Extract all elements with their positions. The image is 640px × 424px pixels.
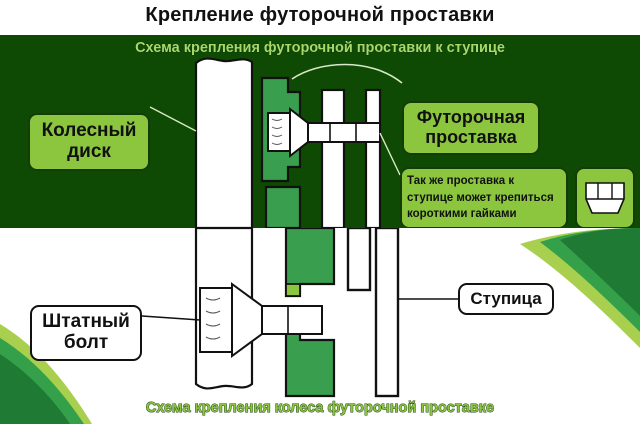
label-spacer: Футорочная проставка: [402, 101, 540, 155]
lower-diagram-panel: Штатный болт Ступица Схема крепления кол…: [0, 228, 640, 424]
upper-diagram-panel: Схема крепления футорочной проставки к с…: [0, 35, 640, 228]
label-note-line2: ступице может крепиться: [407, 192, 554, 204]
bolt-shank: [262, 306, 322, 334]
label-wheel-disc-line1: Колесный: [42, 120, 137, 141]
short-nut-glyph: [582, 177, 628, 219]
diagram-canvas: Крепление футорочной проставки Схема кре…: [0, 0, 640, 424]
label-bolt-line2: болт: [64, 332, 108, 353]
lower-banner-text: Схема крепления колеса футорочной проста…: [0, 400, 640, 416]
page-title: Крепление футорочной проставки: [0, 4, 640, 27]
leader-line-spacer: [292, 65, 402, 84]
wheel-disc-shape: [196, 59, 252, 228]
label-hub: Ступица: [458, 283, 554, 315]
label-note-short-nuts: Так же проставка к ступице может крепить…: [400, 167, 568, 228]
short-nut-icon: [575, 167, 635, 228]
leader-line-bolt: [142, 316, 200, 320]
label-spacer-line1: Футорочная: [417, 107, 526, 127]
leader-line-wheel-disc: [150, 107, 196, 131]
stud-shank: [308, 123, 380, 142]
bolt-cone-seat: [232, 284, 262, 356]
stud-nut-head: [268, 113, 290, 151]
leader-line-note: [380, 133, 400, 175]
label-wheel-disc-line2: диск: [67, 141, 111, 162]
label-hub-text: Ступица: [470, 290, 541, 309]
spacer-lower-body-2: [286, 328, 334, 396]
hub-outer-plate-shape: [366, 90, 380, 228]
label-note-line3: короткими гайками: [407, 208, 517, 220]
label-bolt-line1: Штатный: [42, 311, 130, 332]
label-wheel-disc: Колесный диск: [28, 113, 150, 171]
spacer-step-upper: [286, 284, 300, 296]
leader-line-hub: [398, 288, 458, 299]
label-standard-bolt: Штатный болт: [30, 305, 142, 361]
label-note-line1: Так же проставка к: [407, 175, 514, 187]
spacer-lower-shape: [266, 187, 300, 228]
label-spacer-line2: проставка: [425, 127, 517, 147]
hub-inner-plate: [348, 228, 370, 290]
stud-cone-seat: [290, 109, 308, 156]
bolt-hex-head: [200, 288, 232, 352]
hub-plate-shape: [322, 90, 344, 228]
hub-outer-plate: [376, 228, 398, 396]
